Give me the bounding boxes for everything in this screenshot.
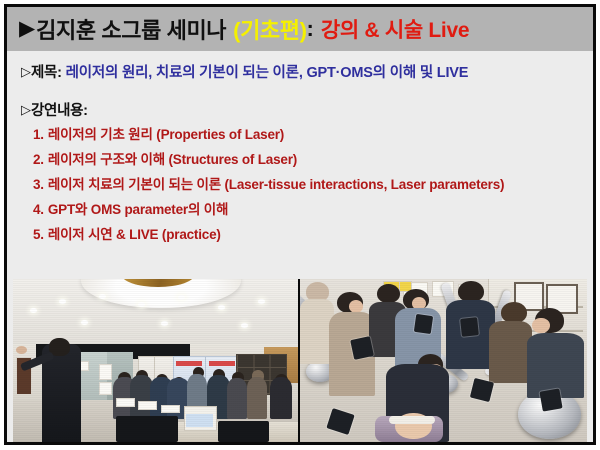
list-item-number: 3. — [33, 177, 44, 192]
hands-on-demo-photo — [300, 279, 587, 442]
list-item-label: 레이저의 기초 원리 (Properties of Laser) — [48, 127, 284, 142]
title-highlight-basic: (기초편) — [233, 13, 306, 45]
list-item-number: 1. — [33, 127, 44, 142]
list-item: 1.레이저의 기초 원리 (Properties of Laser) — [33, 127, 587, 144]
triangle-outline-icon: ▷ — [21, 102, 31, 117]
lecture-hall-photo — [13, 279, 298, 442]
content-heading: ▷강연내용: — [21, 99, 88, 120]
list-item-label: 레이저의 구조와 이해 (Structures of Laser) — [48, 152, 297, 167]
triangle-outline-icon: ▷ — [21, 64, 31, 79]
photo-row — [13, 279, 587, 442]
slide-body: ▷제목:레이저의 원리, 치료의 기본이 되는 이론, GPT·OMS의 이해 … — [7, 51, 593, 442]
title-bullet-icon: ▶ — [19, 18, 35, 39]
page-title: 김지훈 소그룹 세미나 — [36, 13, 226, 45]
list-item-label: 레이저 시연 & LIVE (practice) — [48, 227, 221, 242]
lecture-content-list: 1.레이저의 기초 원리 (Properties of Laser) 2.레이저… — [33, 127, 587, 251]
subject-label: 제목: — [31, 65, 62, 81]
title-colon: : — [307, 16, 314, 42]
slide-title-bar: ▶ 김지훈 소그룹 세미나 (기초편) : 강의 & 시술 Live — [7, 7, 593, 51]
presentation-slide: ▶ 김지훈 소그룹 세미나 (기초편) : 강의 & 시술 Live ▷제목:레… — [0, 0, 600, 450]
list-item: 5.레이저 시연 & LIVE (practice) — [33, 227, 587, 244]
list-item-number: 5. — [33, 227, 44, 242]
subject-text: 레이저의 원리, 치료의 기본이 되는 이론, GPT·OMS의 이해 및 LI… — [66, 65, 469, 81]
slide-frame: ▶ 김지훈 소그룹 세미나 (기초편) : 강의 & 시술 Live ▷제목:레… — [4, 4, 596, 445]
list-item-label: 레이저 치료의 기본이 되는 이론 (Laser-tissue interact… — [48, 177, 504, 192]
title-subtitle-red: 강의 & 시술 Live — [321, 14, 469, 44]
list-item-label: GPT와 OMS parameter의 이해 — [48, 202, 228, 217]
list-item: 2.레이저의 구조와 이해 (Structures of Laser) — [33, 152, 587, 169]
list-item-number: 2. — [33, 152, 44, 167]
list-item: 3.레이저 치료의 기본이 되는 이론 (Laser-tissue intera… — [33, 177, 587, 194]
list-item: 4.GPT와 OMS parameter의 이해 — [33, 202, 587, 219]
subject-line: ▷제목:레이저의 원리, 치료의 기본이 되는 이론, GPT·OMS의 이해 … — [21, 61, 468, 82]
list-item-number: 4. — [33, 202, 44, 217]
content-label: 강연내용: — [31, 103, 88, 119]
